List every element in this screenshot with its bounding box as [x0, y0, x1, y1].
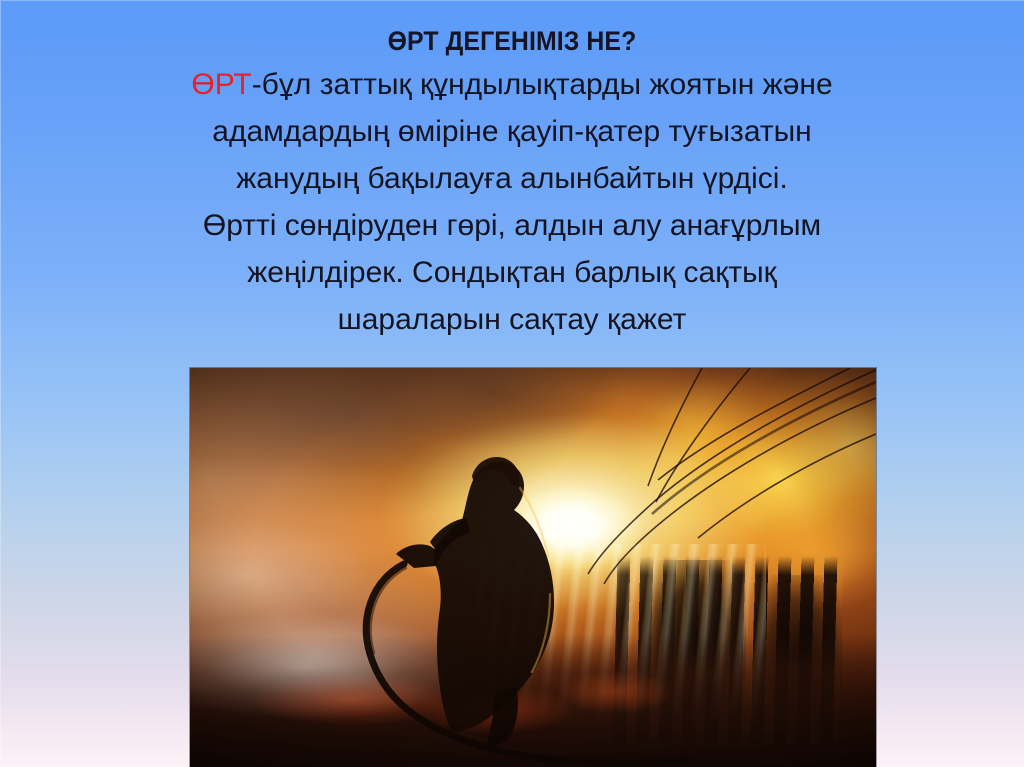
- body-line-1: ӨРТ-бұл заттық құндылықтарды жоятын және: [0, 61, 1024, 108]
- presentation-slide: ӨРТ ДЕГЕНІМІЗ НЕ? ӨРТ-бұл заттық құндылы…: [0, 0, 1024, 767]
- body-line-5: жеңілдірек. Сондықтан барлық сақтық: [0, 249, 1024, 296]
- accent-word-ort: ӨРТ: [191, 68, 251, 101]
- body-line-2: адамдардың өміріне қауіп-қатер туғызатын: [0, 108, 1024, 155]
- page-title: ӨРТ ДЕГЕНІМІЗ НЕ?: [41, 24, 983, 58]
- body-line-3: жанудың бақылауға алынбайтын үрдісі.: [0, 155, 1024, 202]
- body-line-1-text: -бұл заттық құндылықтарды жоятын және: [252, 68, 833, 101]
- slide-text-block: ӨРТ ДЕГЕНІМІЗ НЕ? ӨРТ-бұл заттық құндылы…: [0, 24, 1024, 343]
- photo-vignette: [190, 368, 876, 767]
- fire-photo-canvas: [190, 368, 876, 767]
- fire-photo: [190, 368, 876, 767]
- body-line-6: шараларын сақтау қажет: [0, 296, 1024, 343]
- body-line-4: Өртті сөндіруден гөрі, алдын алу анағұрл…: [0, 202, 1024, 249]
